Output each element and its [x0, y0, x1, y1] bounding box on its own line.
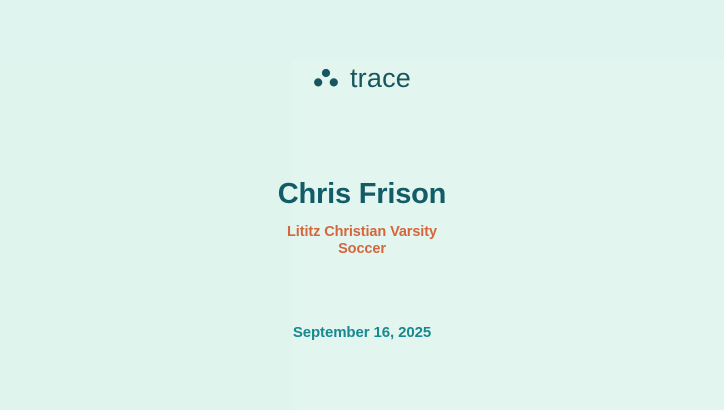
- team-name-line-2: Soccer: [338, 241, 386, 257]
- trace-logo: trace: [313, 64, 411, 91]
- team-name: Lititz Christian Varsity Soccer: [247, 224, 477, 258]
- trace-wordmark: trace: [350, 65, 411, 92]
- three-dots-triangle-icon: [313, 66, 339, 90]
- event-date: September 16, 2025: [0, 325, 724, 342]
- card-content: trace Chris Frison Lititz Christian Vars…: [0, 0, 724, 410]
- title-card: trace Chris Frison Lititz Christian Vars…: [0, 0, 724, 410]
- team-name-line-1: Lititz Christian Varsity: [287, 224, 437, 240]
- athlete-name: Chris Frison: [0, 179, 724, 211]
